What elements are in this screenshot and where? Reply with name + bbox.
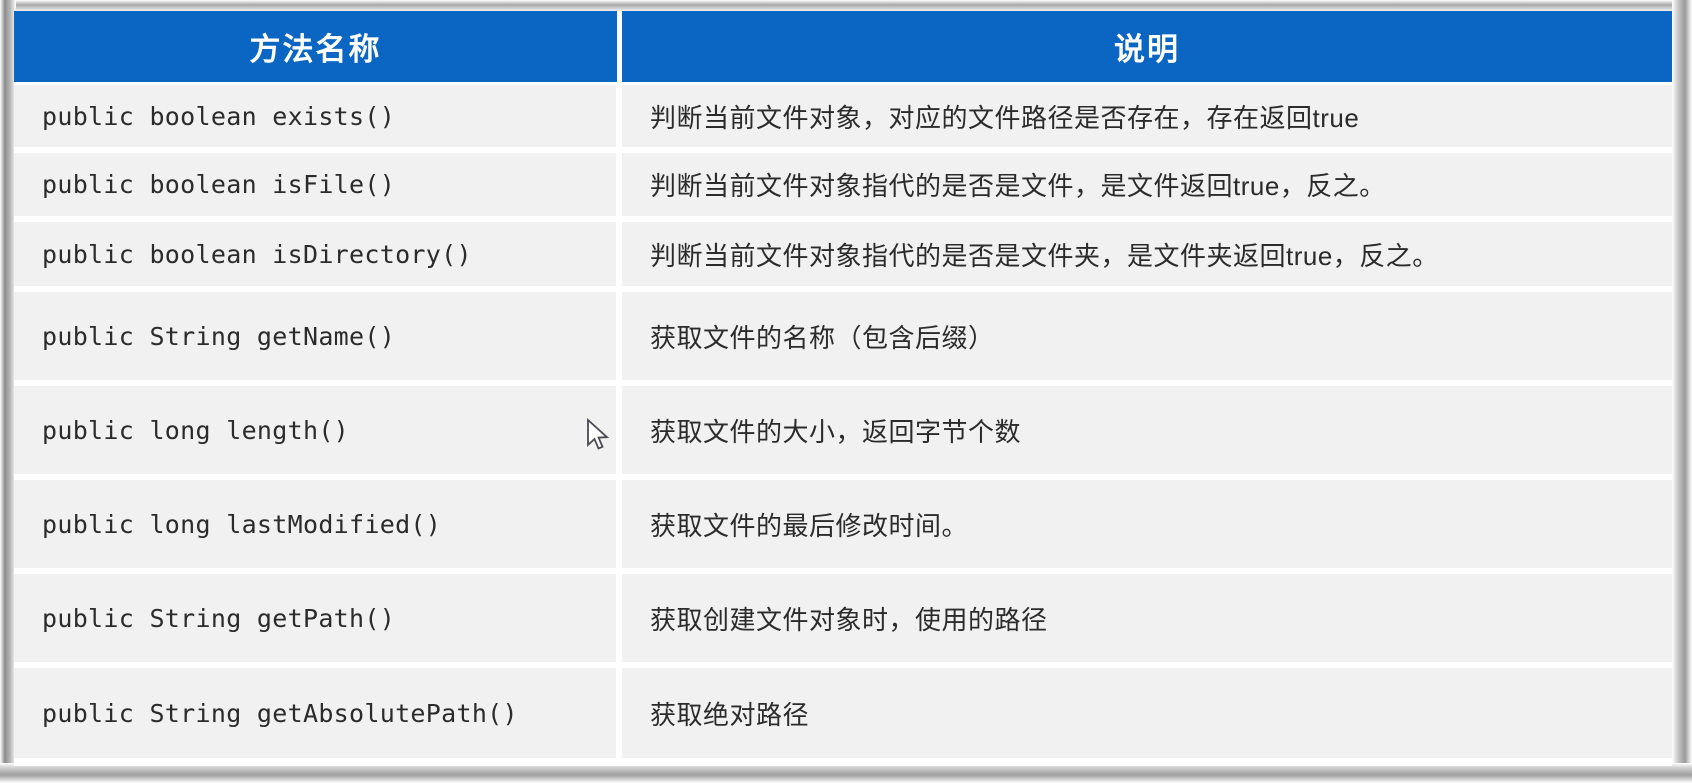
table-row: public boolean isFile() 判断当前文件对象指代的是否是文件… xyxy=(14,147,1672,216)
cell-method-name: public long length() xyxy=(14,380,622,474)
cell-description: 获取文件的最后修改时间。 xyxy=(622,474,1672,568)
cell-description: 判断当前文件对象指代的是否是文件夹，是文件夹返回true，反之。 xyxy=(622,216,1672,286)
table-row: public boolean exists() 判断当前文件对象，对应的文件路径… xyxy=(14,82,1672,147)
cell-method-name: public boolean isDirectory() xyxy=(14,216,622,286)
frame-edge-bottom xyxy=(0,763,1692,783)
screenshot-canvas: 方法名称 说明 public boolean exists() 判断当前文件对象… xyxy=(0,0,1692,783)
table-row: public boolean isDirectory() 判断当前文件对象指代的… xyxy=(14,216,1672,286)
cell-description: 获取文件的大小，返回字节个数 xyxy=(622,380,1672,474)
cell-method-name: public long lastModified() xyxy=(14,474,622,568)
file-methods-table: 方法名称 说明 public boolean exists() 判断当前文件对象… xyxy=(14,11,1672,758)
table-row: public long lastModified() 获取文件的最后修改时间。 xyxy=(14,474,1672,568)
table-row: public long length() 获取文件的大小，返回字节个数 xyxy=(14,380,1672,474)
cell-description: 获取创建文件对象时，使用的路径 xyxy=(622,568,1672,662)
cell-description: 获取绝对路径 xyxy=(622,662,1672,758)
cell-description: 判断当前文件对象指代的是否是文件，是文件返回true，反之。 xyxy=(622,147,1672,216)
cell-method-name: public String getName() xyxy=(14,286,622,380)
table-row: public String getName() 获取文件的名称（包含后缀） xyxy=(14,286,1672,380)
table-header: 方法名称 说明 xyxy=(14,11,1672,82)
table-body: public boolean exists() 判断当前文件对象，对应的文件路径… xyxy=(14,82,1672,758)
cell-method-name: public boolean isFile() xyxy=(14,147,622,216)
table-row: public String getPath() 获取创建文件对象时，使用的路径 xyxy=(14,568,1672,662)
file-methods-table-container: 方法名称 说明 public boolean exists() 判断当前文件对象… xyxy=(14,11,1672,766)
cell-description: 获取文件的名称（包含后缀） xyxy=(622,286,1672,380)
cell-method-name: public String getAbsolutePath() xyxy=(14,662,622,758)
cell-method-name: public boolean exists() xyxy=(14,82,622,147)
cell-description: 判断当前文件对象，对应的文件路径是否存在，存在返回true xyxy=(622,82,1672,147)
table-row: public String getAbsolutePath() 获取绝对路径 xyxy=(14,662,1672,758)
cell-method-name: public String getPath() xyxy=(14,568,622,662)
frame-edge-right xyxy=(1672,0,1692,783)
column-header-description: 说明 xyxy=(622,11,1672,82)
column-header-method-name: 方法名称 xyxy=(14,11,622,82)
table-header-row: 方法名称 说明 xyxy=(14,11,1672,82)
